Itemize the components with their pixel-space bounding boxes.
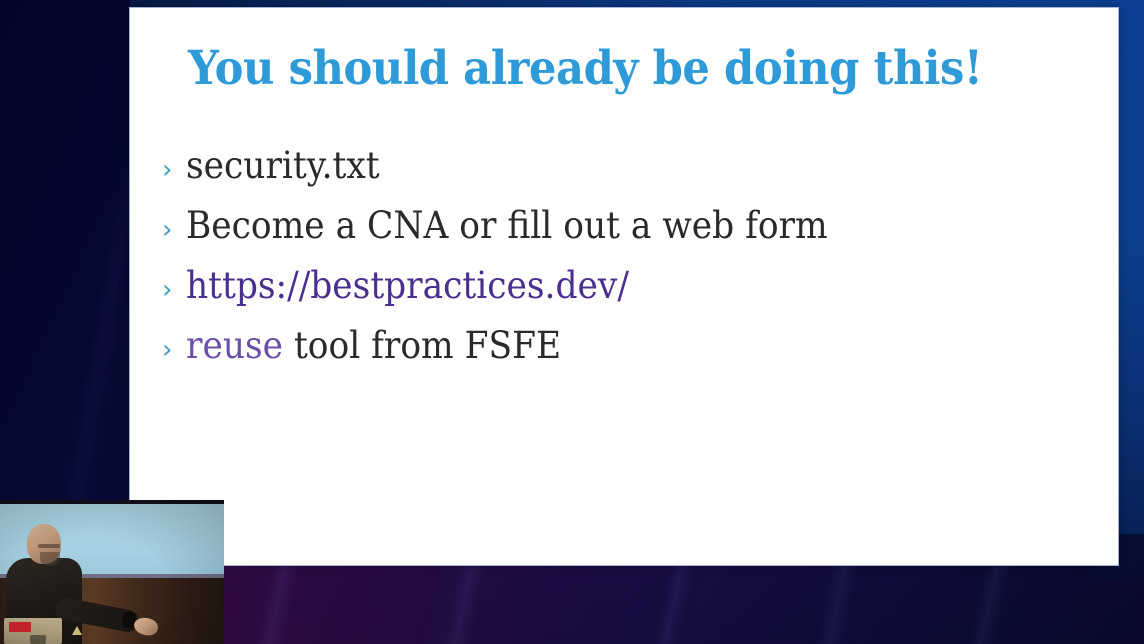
slide-title: You should already be doing this! — [188, 44, 982, 93]
stage-cone-marker — [72, 626, 82, 635]
reuse-tool-name: reuse — [186, 324, 283, 367]
chevron-right-icon: › — [162, 140, 186, 200]
list-item: › reuse tool from FSFE — [162, 316, 1098, 376]
list-item: › security.txt — [162, 136, 1098, 196]
bullet-item-label: reuse tool from FSFE — [186, 316, 561, 376]
chevron-right-icon: › — [162, 260, 186, 320]
projected-slide: You should already be doing this! › secu… — [130, 8, 1118, 565]
bullet-item-label: Become a CNA or fill out a web form — [186, 196, 828, 256]
chevron-right-icon: › — [162, 200, 186, 260]
presentation-recording-frame: You should already be doing this! › secu… — [0, 0, 1144, 644]
bestpractices-link[interactable]: https://bestpractices.dev/ — [186, 264, 629, 307]
laptop-sticker — [9, 622, 31, 632]
bullet-item-label: https://bestpractices.dev/ — [186, 256, 629, 316]
list-item: › Become a CNA or fill out a web form — [162, 196, 1098, 256]
chevron-right-icon: › — [162, 320, 186, 380]
speaker-video-inset[interactable] — [0, 500, 224, 644]
slide-bullet-list: › security.txt › Become a CNA or fill ou… — [162, 136, 1098, 376]
bullet-item-trailing-text: tool from FSFE — [283, 324, 561, 367]
speaker-glasses — [38, 544, 60, 548]
bullet-item-label: security.txt — [186, 136, 380, 196]
laptop-keyboard — [30, 635, 46, 644]
speaker-beard — [40, 552, 60, 566]
list-item: › https://bestpractices.dev/ — [162, 256, 1098, 316]
